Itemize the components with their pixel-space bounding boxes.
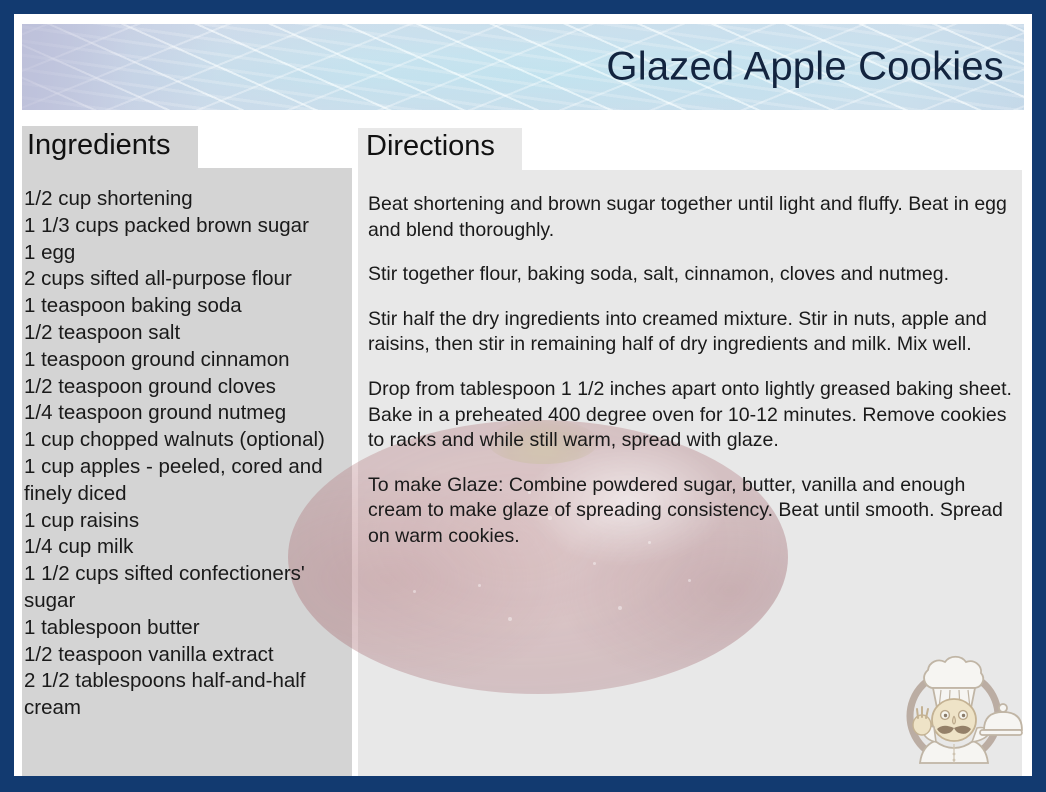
list-item: 1 1/2 cups sifted confectioners' sugar: [24, 561, 344, 615]
frame-border-top: [0, 0, 1046, 14]
ingredients-header-tab: Ingredients: [22, 126, 198, 170]
list-item: 2 cups sifted all-purpose flour: [24, 266, 344, 293]
list-item: 1 teaspoon baking soda: [24, 293, 344, 320]
list-item: 2 1/2 tablespoons half-and-half cream: [24, 668, 344, 722]
list-item: 1 1/3 cups packed brown sugar: [24, 213, 344, 240]
list-item: 1/2 teaspoon vanilla extract: [24, 642, 344, 669]
list-item: 1/2 teaspoon salt: [24, 320, 344, 347]
direction-paragraph: To make Glaze: Combine powdered sugar, b…: [368, 473, 1020, 550]
ingredients-list: 1/2 cup shortening 1 1/3 cups packed bro…: [24, 186, 344, 722]
title-banner: Glazed Apple Cookies: [22, 24, 1024, 110]
list-item: 1 tablespoon butter: [24, 615, 344, 642]
page-title: Glazed Apple Cookies: [606, 45, 1004, 90]
ingredients-heading: Ingredients: [27, 129, 171, 162]
frame-border-right: [1032, 0, 1046, 792]
directions-heading: Directions: [366, 130, 495, 163]
list-item: 1/2 teaspoon ground cloves: [24, 374, 344, 401]
direction-paragraph: Stir half the dry ingredients into cream…: [368, 307, 1020, 358]
direction-paragraph: Stir together flour, baking soda, salt, …: [368, 262, 1020, 288]
list-item: 1/4 cup milk: [24, 534, 344, 561]
list-item: 1 egg: [24, 240, 344, 267]
directions-header-tab: Directions: [358, 128, 522, 170]
direction-paragraph: Drop from tablespoon 1 1/2 inches apart …: [368, 377, 1020, 454]
frame-border-left: [0, 0, 14, 792]
direction-paragraph: Beat shortening and brown sugar together…: [368, 192, 1020, 243]
list-item: 1/4 teaspoon ground nutmeg: [24, 400, 344, 427]
list-item: 1 cup chopped walnuts (optional): [24, 427, 344, 454]
list-item: 1 teaspoon ground cinnamon: [24, 347, 344, 374]
list-item: 1 cup raisins: [24, 508, 344, 535]
frame-border-bottom: [0, 776, 1046, 792]
list-item: 1/2 cup shortening: [24, 186, 344, 213]
recipe-card: Glazed Apple Cookies Ingredients Directi…: [0, 0, 1046, 792]
banner-left-fade: [22, 24, 202, 110]
list-item: 1 cup apples - peeled, cored and finely …: [24, 454, 344, 508]
directions-text: Beat shortening and brown sugar together…: [368, 192, 1020, 569]
